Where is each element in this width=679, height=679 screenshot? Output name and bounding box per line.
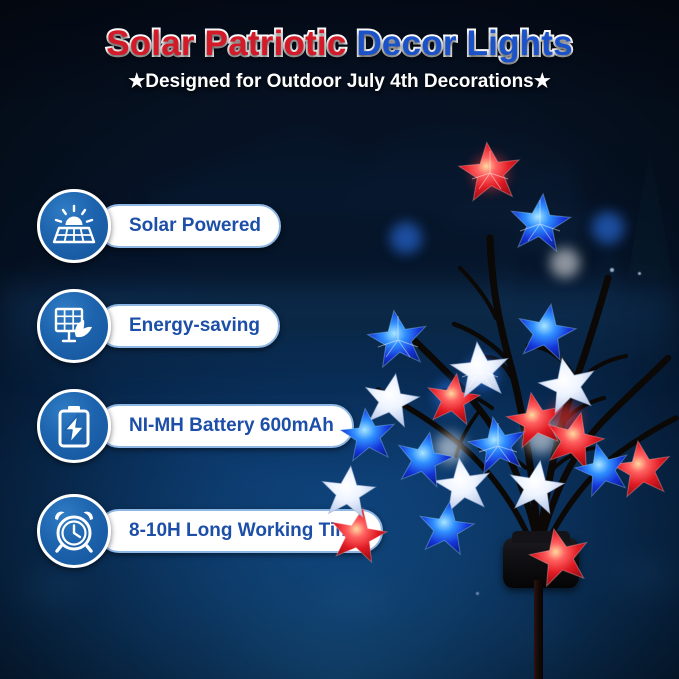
page-subtitle: ★Designed for Outdoor July 4th Decoratio… — [0, 70, 679, 93]
feature-pill: Energy-saving — [97, 304, 280, 348]
feature-badge-solar-powered: Solar Powered — [37, 189, 281, 263]
headline-block: Solar Patriotic Decor Lights ★Designed f… — [0, 26, 679, 93]
solar-panel-leaf-icon — [37, 289, 111, 363]
title-red-text: Solar Patriotic — [106, 24, 346, 63]
feature-pill: Solar Powered — [97, 204, 281, 248]
ground-stake — [534, 580, 543, 679]
page-title: Solar Patriotic Decor Lights — [106, 26, 573, 61]
title-blue-text: Decor Lights — [347, 24, 573, 63]
solar-panel-sun-icon — [37, 189, 111, 263]
product-marketing-image: Solar Patriotic Decor Lights ★Designed f… — [0, 0, 679, 679]
tree-branches — [320, 118, 679, 588]
feature-badge-battery: NI-MH Battery 600mAh — [37, 389, 354, 463]
feature-label: NI-MH Battery 600mAh — [129, 415, 334, 437]
patriotic-star-light-tree — [320, 118, 679, 679]
feature-badge-energy-saving: Energy-saving — [37, 289, 280, 363]
feature-label: Solar Powered — [129, 215, 261, 237]
feature-label: Energy-saving — [129, 315, 260, 337]
alarm-clock-icon — [37, 494, 111, 568]
battery-bolt-icon — [37, 389, 111, 463]
feature-pill: NI-MH Battery 600mAh — [97, 404, 354, 448]
